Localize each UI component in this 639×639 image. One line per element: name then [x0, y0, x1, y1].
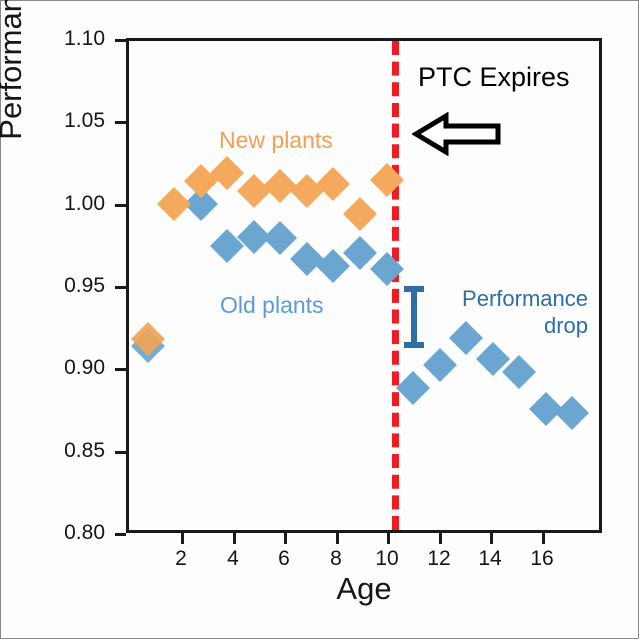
x-axis-label: Age: [126, 571, 602, 607]
data-point-new-plants: [290, 174, 324, 208]
x-tick-label: 8: [316, 547, 356, 571]
data-point-new-plants: [210, 156, 244, 190]
x-tick-mark: [439, 533, 442, 544]
y-tick-mark: [115, 39, 126, 42]
ptc-expiry-line: [392, 41, 399, 530]
y-tick-mark: [115, 204, 126, 207]
y-tick-label: 1.10: [25, 27, 105, 51]
data-point-old-plants: [423, 348, 457, 382]
series-label-old-plants: Old plants: [220, 292, 324, 319]
x-tick-mark: [181, 533, 184, 544]
x-tick-label: 4: [213, 547, 253, 571]
x-tick-mark: [387, 533, 390, 544]
x-tick-label: 14: [470, 547, 510, 571]
x-tick-label: 10: [367, 547, 407, 571]
data-point-old-plants: [290, 242, 324, 276]
y-tick-label: 0.85: [25, 439, 105, 463]
y-tick-label: 0.90: [25, 356, 105, 380]
ptc-expires-label: PTC Expires: [418, 62, 570, 93]
y-tick-label: 0.80: [25, 521, 105, 545]
plot-area: New plants Old plants PTC Expires Perfor…: [126, 38, 602, 533]
left-arrow-icon: [412, 112, 502, 156]
x-tick-mark: [284, 533, 287, 544]
performance-drop-label: Performance drop: [428, 285, 588, 339]
x-tick-label: 6: [264, 547, 304, 571]
y-tick-label: 1.00: [25, 192, 105, 216]
x-tick-mark: [336, 533, 339, 544]
performance-drop-bracket: [400, 285, 426, 349]
performance-drop-line1: Performance: [428, 285, 588, 312]
x-tick-label: 2: [161, 547, 201, 571]
data-point-old-plants: [555, 396, 589, 430]
data-point-old-plants: [396, 371, 430, 405]
data-point-new-plants: [343, 197, 377, 231]
x-tick-mark: [233, 533, 236, 544]
chart-figure: Performance Age 1.10 1.05 1.00 0.95 0.90…: [0, 0, 639, 639]
y-tick-mark: [115, 121, 126, 124]
data-point-old-plants: [263, 221, 297, 255]
y-axis-label: Performance: [0, 0, 29, 171]
x-tick-label: 16: [522, 547, 562, 571]
x-tick-mark: [542, 533, 545, 544]
y-tick-label: 1.05: [25, 109, 105, 133]
y-tick-mark: [115, 451, 126, 454]
y-tick-mark: [115, 533, 126, 536]
data-point-new-plants: [237, 174, 271, 208]
y-tick-mark: [115, 368, 126, 371]
y-tick-mark: [115, 286, 126, 289]
x-tick-label: 12: [419, 547, 459, 571]
data-point-new-plants: [263, 169, 297, 203]
data-point-new-plants: [157, 187, 191, 221]
series-label-new-plants: New plants: [219, 127, 333, 154]
x-tick-mark: [490, 533, 493, 544]
data-point-new-plants: [316, 167, 350, 201]
y-tick-label: 0.95: [25, 274, 105, 298]
